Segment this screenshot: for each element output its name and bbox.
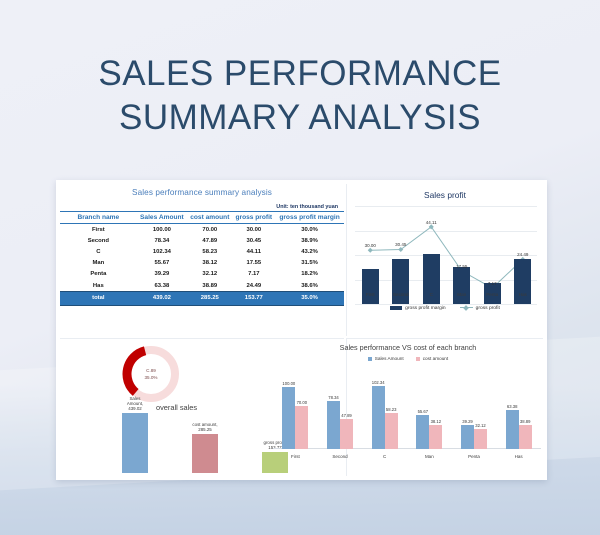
cell-sales: 63.38 bbox=[137, 280, 187, 292]
bar-value-label: 47.89 bbox=[341, 413, 351, 419]
x-tick-label: Man bbox=[449, 292, 475, 297]
bar-value-label: 32.12 bbox=[475, 423, 485, 429]
cell-margin: 31.5% bbox=[275, 258, 344, 269]
legend-item-gross-profit-margin: gross profit margin bbox=[390, 306, 446, 311]
legend-line-swatch-icon bbox=[460, 307, 473, 308]
cell-branch: Man bbox=[60, 258, 137, 269]
cell-branch: Penta bbox=[60, 269, 137, 280]
cost-amount-bar: 38.89 bbox=[519, 425, 532, 449]
sales-profit-chart-panel: Sales profit 30.0030.4544.1117.557.1724.… bbox=[346, 184, 543, 336]
x-tick-label: First bbox=[277, 454, 313, 459]
sales-profit-plot-area: 30.0030.4544.1117.557.1724.49 bbox=[355, 206, 537, 304]
cell-branch: First bbox=[60, 224, 137, 236]
x-tick-label: First bbox=[357, 292, 383, 297]
table-row: C 102.34 58.23 44.11 43.2% bbox=[60, 246, 344, 257]
cell-margin: 38.9% bbox=[275, 235, 344, 246]
x-tick-label: Has bbox=[501, 454, 537, 459]
overall-sales-bar: SalesAmount,439.02 bbox=[122, 413, 148, 473]
page-title-line-2: SUMMARY ANALYSIS bbox=[0, 96, 600, 140]
cost-amount-bar: 58.23 bbox=[385, 413, 398, 449]
sales-amount-bar: 102.34 bbox=[372, 386, 385, 449]
sales-vs-cost-plot-area: 100.0070.00First78.3447.89Second102.3458… bbox=[273, 367, 541, 459]
x-tick-label: C bbox=[367, 454, 403, 459]
gross-profit-point-label: 24.49 bbox=[517, 252, 528, 257]
col-gross-profit-margin: gross profit margin bbox=[275, 212, 344, 224]
sales-profit-x-axis: FirstSecondCManPentaHas bbox=[355, 292, 537, 302]
legend-label: cost amount bbox=[423, 356, 449, 361]
cell-cost: 70.00 bbox=[187, 224, 232, 236]
overall-sales-bar-label: cost amount,285.25 bbox=[192, 422, 217, 434]
bar-value-label: 39.29 bbox=[462, 419, 472, 425]
cell-total-profit: 153.77 bbox=[233, 292, 276, 305]
bar-value-label: 102.34 bbox=[372, 380, 385, 386]
legend-item-sales-amount: Sales Amount bbox=[368, 356, 404, 361]
cell-total-cost: 285.25 bbox=[187, 292, 232, 305]
table-row: Has 63.38 38.89 24.49 38.6% bbox=[60, 280, 344, 292]
x-tick-label: Penta bbox=[479, 292, 505, 297]
cell-total-label: total bbox=[60, 292, 137, 305]
dashboard-card: Sales performance summary analysis Unit:… bbox=[56, 180, 547, 480]
cell-profit: 24.49 bbox=[233, 280, 276, 292]
col-sales-amount: Sales Amount bbox=[137, 212, 187, 224]
cell-sales: 55.67 bbox=[137, 258, 187, 269]
x-tick-label: C bbox=[418, 292, 444, 297]
cell-cost: 38.89 bbox=[187, 280, 232, 292]
gross-profit-line bbox=[355, 206, 538, 304]
table-header-row: Branch name Sales Amount cost amount gro… bbox=[60, 212, 344, 224]
table-row: Penta 39.29 32.12 7.17 18.2% bbox=[60, 269, 344, 280]
col-gross-profit: gross profit bbox=[233, 212, 276, 224]
legend-label: Sales Amount bbox=[375, 356, 404, 361]
cell-branch: Second bbox=[60, 235, 137, 246]
cell-profit: 44.11 bbox=[233, 246, 276, 257]
summary-table-title: Sales performance summary analysis bbox=[60, 184, 344, 197]
x-tick-label: Penta bbox=[456, 454, 492, 459]
sales-vs-cost-title: Sales performance VS cost of each branch bbox=[273, 343, 543, 352]
table-row: First 100.00 70.00 30.00 30.0% bbox=[60, 224, 344, 236]
donut-center-value: C.89 bbox=[146, 367, 156, 374]
gross-profit-point-label: 30.45 bbox=[395, 242, 406, 247]
legend-label: gross profit bbox=[476, 306, 500, 311]
cell-branch: C bbox=[60, 246, 137, 257]
overall-sales-bar-label: SalesAmount,439.02 bbox=[127, 396, 143, 414]
x-axis-line bbox=[273, 448, 541, 449]
cell-cost: 47.89 bbox=[187, 235, 232, 246]
sales-profit-legend: gross profit margin gross profit bbox=[347, 306, 543, 311]
legend-item-gross-profit: gross profit bbox=[460, 306, 500, 311]
sales-vs-cost-panel: Sales performance VS cost of each branch… bbox=[346, 338, 543, 476]
sales-amount-bar: 39.29 bbox=[461, 425, 474, 449]
x-tick-label: Man bbox=[411, 454, 447, 459]
cell-total-margin: 35.0% bbox=[275, 292, 344, 305]
cell-cost: 58.23 bbox=[187, 246, 232, 257]
cell-profit: 30.00 bbox=[233, 224, 276, 236]
cell-total-sales: 439.02 bbox=[137, 292, 187, 305]
cell-sales: 100.00 bbox=[137, 224, 187, 236]
gross-profit-point-label: 7.17 bbox=[488, 281, 497, 286]
sales-profit-chart-title: Sales profit bbox=[347, 184, 543, 200]
cell-cost: 38.12 bbox=[187, 258, 232, 269]
bar-value-label: 55.67 bbox=[418, 409, 428, 415]
summary-table-panel: Sales performance summary analysis Unit:… bbox=[60, 184, 344, 336]
bar-value-label: 78.34 bbox=[328, 395, 338, 401]
col-branch-name: Branch name bbox=[60, 212, 137, 224]
page-title-line-1: SALES PERFORMANCE bbox=[98, 54, 501, 93]
cell-margin: 38.6% bbox=[275, 280, 344, 292]
sales-vs-cost-legend: Sales Amount cost amount bbox=[273, 356, 543, 361]
cell-branch: Has bbox=[60, 280, 137, 292]
legend-item-cost-amount: cost amount bbox=[416, 356, 449, 361]
cell-cost: 32.12 bbox=[187, 269, 232, 280]
cost-amount-bar: 38.12 bbox=[429, 425, 442, 449]
cost-amount-bar: 70.00 bbox=[295, 406, 308, 449]
gross-profit-point-label: 30.00 bbox=[365, 243, 376, 248]
cell-sales: 78.34 bbox=[137, 235, 187, 246]
cell-profit: 7.17 bbox=[233, 269, 276, 280]
x-tick-label: Second bbox=[388, 292, 414, 297]
cell-margin: 30.0% bbox=[275, 224, 344, 236]
bar-value-label: 58.23 bbox=[386, 407, 396, 413]
cell-sales: 102.34 bbox=[137, 246, 187, 257]
legend-sales-swatch-icon bbox=[368, 357, 372, 361]
col-cost-amount: cost amount bbox=[187, 212, 232, 224]
sales-amount-bar: 55.67 bbox=[416, 415, 429, 449]
legend-label: gross profit margin bbox=[405, 306, 446, 311]
bar-value-label: 70.00 bbox=[297, 400, 307, 406]
bar-value-label: 100.00 bbox=[282, 381, 295, 387]
cell-sales: 39.29 bbox=[137, 269, 187, 280]
bar-value-label: 38.89 bbox=[520, 419, 530, 425]
summary-table-unit-note: Unit: ten thousand yuan bbox=[60, 204, 344, 210]
cost-amount-bar: 32.12 bbox=[474, 429, 487, 449]
sales-amount-bar: 100.00 bbox=[282, 387, 295, 449]
page-title: SALES PERFORMANCE SUMMARY ANALYSIS bbox=[0, 52, 600, 140]
bar-value-label: 38.12 bbox=[431, 419, 441, 425]
legend-bar-swatch-icon bbox=[390, 306, 402, 310]
cell-profit: 17.55 bbox=[233, 258, 276, 269]
legend-cost-swatch-icon bbox=[416, 357, 420, 361]
cell-margin: 18.2% bbox=[275, 269, 344, 280]
gross-profit-point-label: 17.55 bbox=[456, 264, 467, 269]
sales-amount-bar: 63.38 bbox=[506, 410, 519, 449]
sales-amount-bar: 78.34 bbox=[327, 401, 340, 449]
bar-value-label: 63.38 bbox=[507, 404, 517, 410]
cost-amount-bar: 47.89 bbox=[340, 419, 353, 449]
gross-profit-point-label: 44.11 bbox=[426, 220, 437, 225]
x-tick-label: Has bbox=[510, 292, 536, 297]
cell-margin: 43.2% bbox=[275, 246, 344, 257]
table-row: Second 78.34 47.89 30.45 38.9% bbox=[60, 235, 344, 246]
table-row: Man 55.67 38.12 17.55 31.5% bbox=[60, 258, 344, 269]
summary-table: Branch name Sales Amount cost amount gro… bbox=[60, 211, 344, 306]
x-tick-label: Second bbox=[322, 454, 358, 459]
table-total-row: total 439.02 285.25 153.77 35.0% bbox=[60, 292, 344, 305]
overall-sales-bar: cost amount,285.25 bbox=[192, 434, 218, 473]
cell-profit: 30.45 bbox=[233, 235, 276, 246]
